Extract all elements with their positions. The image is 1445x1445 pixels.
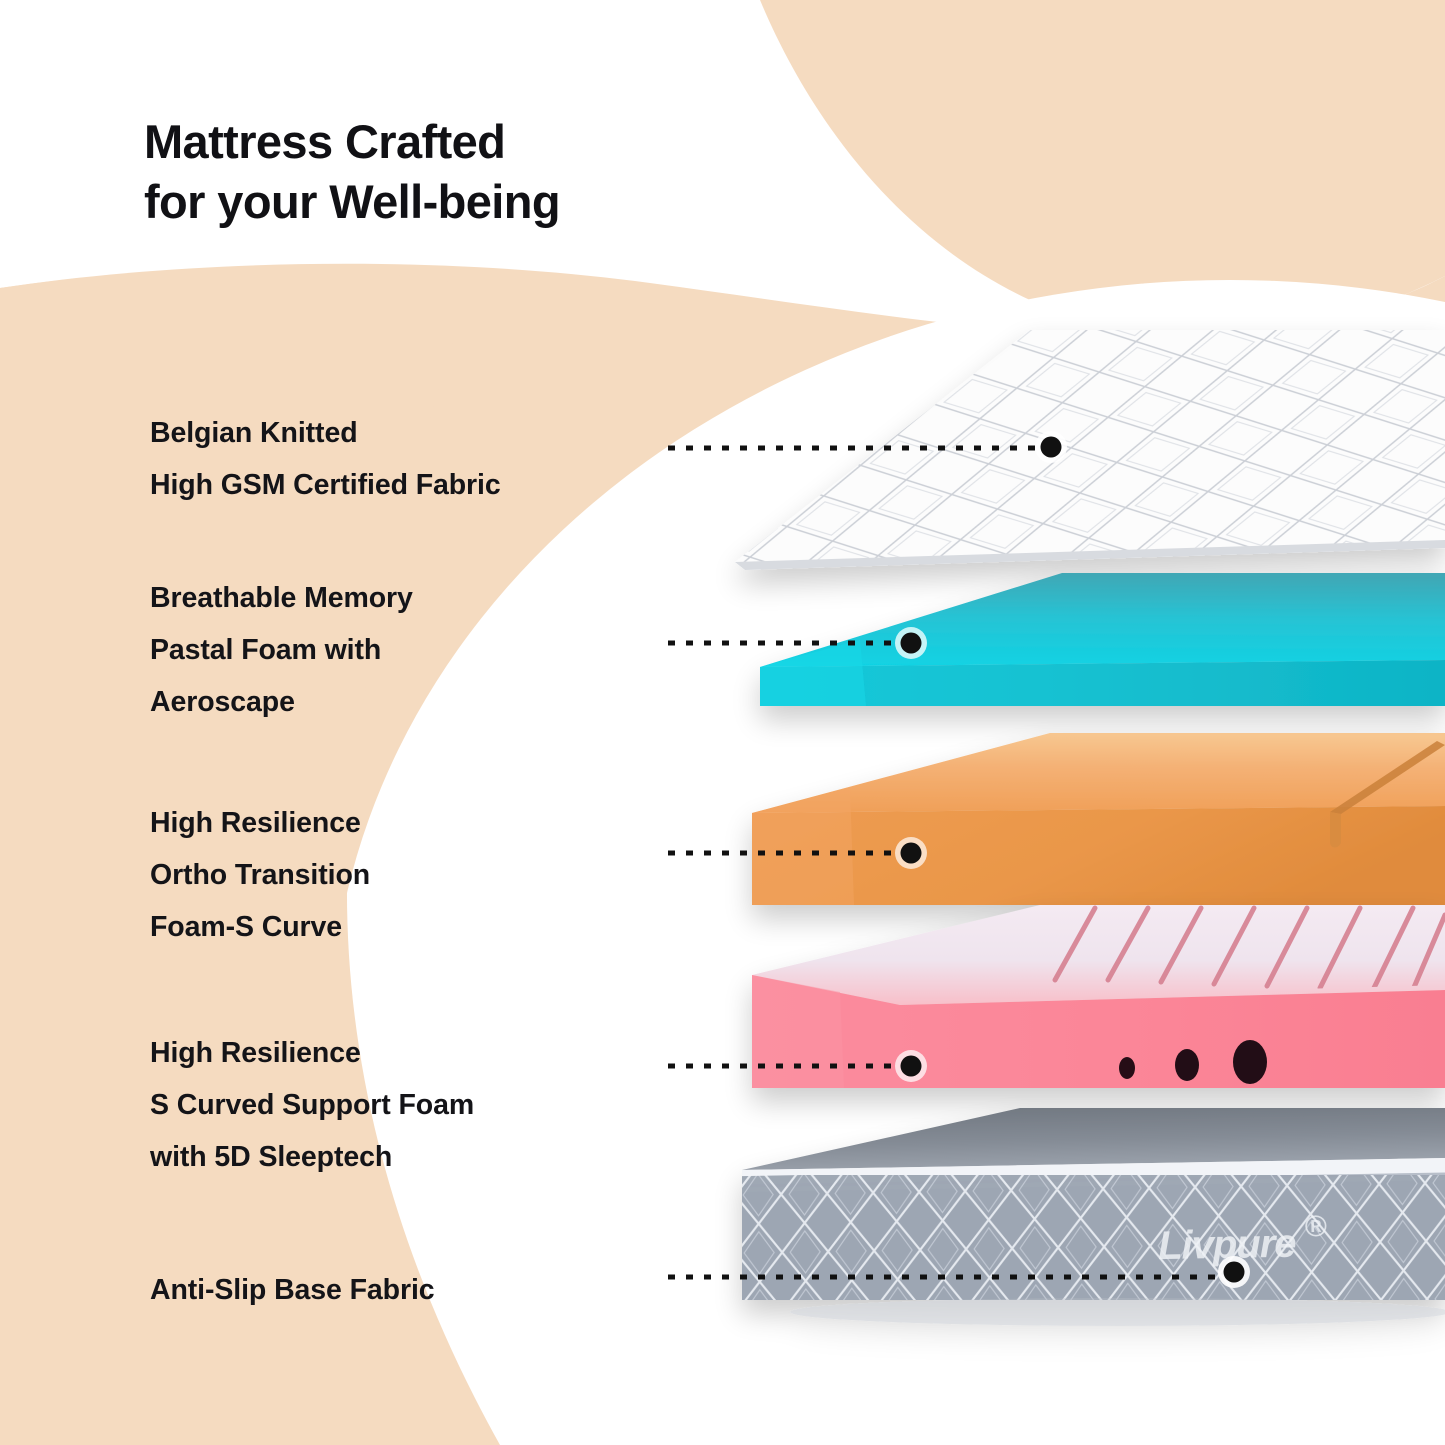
ortho-foam-corner-highlight <box>752 788 854 905</box>
mattress-layer-breathable-memory-foam <box>760 573 1445 706</box>
layer-label-ortho-transition-foam: High Resilience Ortho Transition Foam-S … <box>150 798 370 954</box>
support-foam-top-surface <box>752 905 1445 1005</box>
layer-label-breathable-memory-foam: Breathable Memory Pastal Foam with Aeros… <box>150 573 413 729</box>
support-foam-air-hole-small <box>1119 1057 1135 1079</box>
layer-label-s-curved-support-foam: High Resilience S Curved Support Foam wi… <box>150 1028 474 1184</box>
memory-foam-top-surface <box>760 573 1445 667</box>
support-foam-corner-highlight <box>752 975 844 1088</box>
support-foam-air-hole-medium <box>1175 1049 1199 1081</box>
brand-wordmark: Livpure <box>1158 1222 1297 1268</box>
memory-foam-corner-highlight <box>760 640 866 706</box>
layer-label-anti-slip-base-fabric: Anti-Slip Base Fabric <box>150 1265 435 1317</box>
mattress-layer-belgian-knitted-fabric <box>700 320 1445 590</box>
brand-registered-mark: ® <box>1304 1210 1327 1243</box>
mattress-layer-ortho-transition-foam <box>752 733 1445 905</box>
ortho-foam-groove-end <box>1330 812 1341 848</box>
infographic-canvas: Mattress Crafted for your Well-being Bel… <box>0 0 1445 1445</box>
mattress-layer-anti-slip-base-fabric: Livpure ® <box>719 1108 1445 1326</box>
ortho-foam-front-edge <box>752 806 1445 905</box>
layer-label-belgian-knitted-fabric: Belgian Knitted High GSM Certified Fabri… <box>150 408 501 512</box>
mattress-layer-s-curved-support-foam <box>752 905 1445 1088</box>
ortho-foam-top-surface <box>752 733 1445 813</box>
base-ground-shadow <box>790 1298 1445 1326</box>
page-title: Mattress Crafted for your Well-being <box>144 112 784 232</box>
support-foam-air-hole-large <box>1233 1040 1267 1084</box>
base-quilt-pattern <box>719 1164 1445 1317</box>
